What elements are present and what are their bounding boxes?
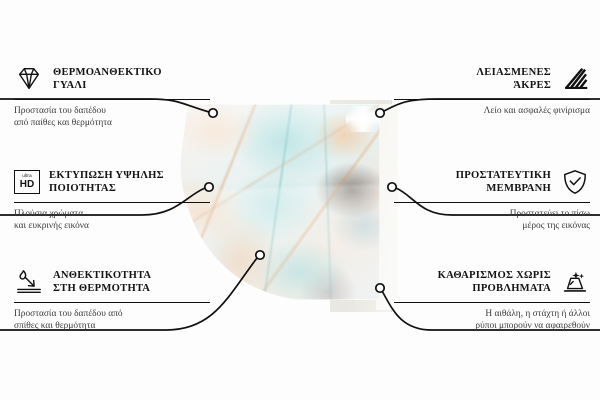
feature-easy-cleaning: ΚΑΘΑΡΙΣΜΟΣ ΧΩΡΙΣ ΠΡΟΒΛΗΜΑΤΑ Η αιθάλη, η … bbox=[394, 267, 590, 332]
feature-heat-resistant-glass: ΘΕΡΜΟΑΝΘΕΚΤΙΚΟ ΓΥΑΛΙ Προστασία του δαπέδ… bbox=[14, 64, 210, 129]
feature-header: ΑΝΘΕΚΤΙΚΟΤΗΤΑ ΣΤΗ ΘΕΡΜΟΤΗΤΑ bbox=[14, 267, 210, 297]
divider bbox=[394, 99, 590, 100]
sponge-sparkle-icon bbox=[560, 268, 590, 296]
feature-description: Η αιθάλη, η στάχτη ή άλλοι ρύποι μπορούν… bbox=[394, 308, 590, 332]
infographic-canvas: ΘΕΡΜΟΑΝΘΕΚΤΙΚΟ ΓΥΑΛΙ Προστασία του δαπέδ… bbox=[0, 0, 600, 400]
feature-description: Προστασία του δαπέδου από παίθες και θερ… bbox=[14, 105, 210, 129]
diamond-icon bbox=[14, 65, 44, 93]
feature-title: ΕΚΤΥΠΩΣΗ ΥΨΗΛΗΣ ΠΟΙΟΤΗΤΑΣ bbox=[49, 169, 164, 196]
feature-description: Λείο και ασφαλές φινίρισμα bbox=[394, 105, 590, 117]
shield-check-icon bbox=[560, 168, 590, 196]
feature-description: Προστατεύει το πίσω μέρος της εικόνας bbox=[394, 208, 590, 232]
feature-title: ΛΕΙΑΣΜΕΝΕΣ ΆΚΡΕΣ bbox=[476, 66, 551, 93]
feature-title: ΠΡΟΣΤΑΤΕΥΤΙΚΗ ΜΕΜΒΡΑΝΗ bbox=[456, 169, 551, 196]
feature-header: ΚΑΘΑΡΙΣΜΟΣ ΧΩΡΙΣ ΠΡΟΒΛΗΜΑΤΑ bbox=[394, 267, 590, 297]
polished-edges-icon bbox=[560, 65, 590, 93]
feature-high-quality-print: ultra HD ΕΚΤΥΠΩΣΗ ΥΨΗΛΗΣ ΠΟΙΟΤΗΤΑΣ Πλούσ… bbox=[14, 167, 210, 232]
feature-header: ΘΕΡΜΟΑΝΘΕΚΤΙΚΟ ΓΥΑΛΙ bbox=[14, 64, 210, 94]
divider bbox=[14, 302, 210, 303]
feature-header: ΛΕΙΑΣΜΕΝΕΣ ΆΚΡΕΣ bbox=[394, 64, 590, 94]
sparkle-icon bbox=[346, 106, 380, 132]
feature-title: ΑΝΘΕΚΤΙΚΟΤΗΤΑ ΣΤΗ ΘΕΡΜΟΤΗΤΑ bbox=[53, 269, 151, 296]
feature-heat-durability: ΑΝΘΕΚΤΙΚΟΤΗΤΑ ΣΤΗ ΘΕΡΜΟΤΗΤΑ Προστασία το… bbox=[14, 267, 210, 332]
divider bbox=[14, 99, 210, 100]
feature-protective-film: ΠΡΟΣΤΑΤΕΥΤΙΚΗ ΜΕΜΒΡΑΝΗ Προστατεύει το πί… bbox=[394, 167, 590, 232]
feature-header: ultra HD ΕΚΤΥΠΩΣΗ ΥΨΗΛΗΣ ΠΟΙΟΤΗΤΑΣ bbox=[14, 167, 210, 197]
feature-header: ΠΡΟΣΤΑΤΕΥΤΙΚΗ ΜΕΜΒΡΑΝΗ bbox=[394, 167, 590, 197]
glass-edge-highlight bbox=[180, 104, 380, 300]
ultra-hd-icon: ultra HD bbox=[14, 170, 40, 194]
divider bbox=[394, 302, 590, 303]
feature-title: ΘΕΡΜΟΑΝΘΕΚΤΙΚΟ ΓΥΑΛΙ bbox=[53, 66, 162, 93]
product-image bbox=[180, 90, 420, 322]
feature-description: Προστασία του δαπέδου από σπίθες και θερ… bbox=[14, 308, 210, 332]
feature-polished-edges: ΛΕΙΑΣΜΕΝΕΣ ΆΚΡΕΣ Λείο και ασφαλές φινίρι… bbox=[394, 64, 590, 117]
feature-description: Πλούσια χρώματα και ευκρινής εικόνα bbox=[14, 208, 210, 232]
flame-deflect-icon bbox=[14, 268, 44, 296]
divider bbox=[14, 202, 210, 203]
feature-title: ΚΑΘΑΡΙΣΜΟΣ ΧΩΡΙΣ ΠΡΟΒΛΗΜΑΤΑ bbox=[438, 269, 551, 296]
divider bbox=[394, 202, 590, 203]
